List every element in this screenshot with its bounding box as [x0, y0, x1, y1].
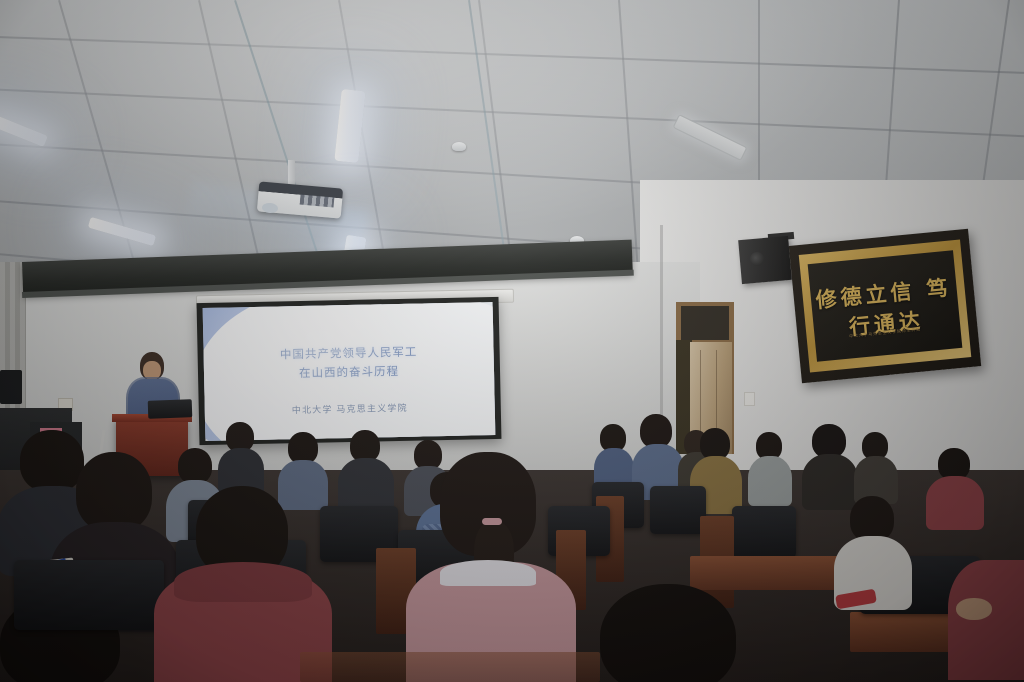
chair: [732, 506, 796, 558]
chair: [650, 486, 706, 534]
student-torso: [748, 456, 792, 506]
student-head: [600, 584, 736, 682]
desk: [300, 652, 600, 682]
student-torso: [802, 454, 858, 510]
student-torso: [948, 560, 1024, 680]
collar: [440, 560, 536, 586]
smoke-detector: [452, 142, 466, 151]
monitor: [0, 370, 22, 404]
student-torso: [926, 476, 984, 530]
hair-tie: [482, 518, 502, 525]
student-torso: [278, 460, 328, 510]
hood: [174, 562, 312, 602]
chair: [14, 560, 164, 630]
door-transom-window: [681, 306, 729, 340]
hand: [956, 598, 992, 620]
wall-speaker: [738, 236, 792, 284]
lecture-hall-photo: 中国共产党领导人民军工 在山西的奋斗历程 中北大学 马克思主义学院 修德立信 笃…: [0, 0, 1024, 682]
light-switch[interactable]: [744, 392, 755, 406]
student-head: [178, 448, 212, 484]
student-head: [640, 414, 672, 448]
projection-screen: 中国共产党领导人民军工 在山西的奋斗历程 中北大学 马克思主义学院: [203, 302, 496, 441]
laptop[interactable]: [148, 399, 193, 419]
student-head: [812, 424, 846, 458]
student-head: [20, 430, 84, 492]
student-head: [76, 452, 152, 532]
screen-glare: [203, 302, 496, 441]
